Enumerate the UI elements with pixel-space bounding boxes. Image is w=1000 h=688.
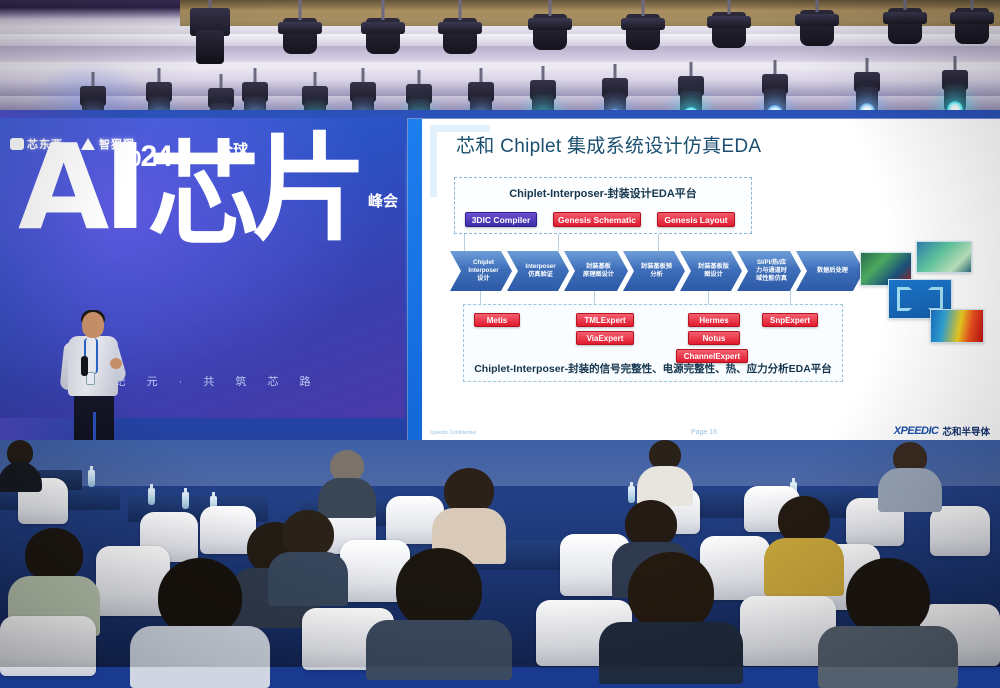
audience-area	[0, 440, 1000, 667]
water-bottle	[88, 470, 95, 487]
par-light	[283, 18, 317, 54]
tool-viaexpert[interactable]: ViaExpert	[576, 331, 634, 345]
water-bottle	[148, 488, 155, 505]
connector-line	[464, 234, 465, 251]
audience-member	[830, 558, 946, 672]
connector-line	[480, 291, 481, 305]
xpeedic-wordmark: XPEEDIC	[894, 425, 939, 437]
par-light	[800, 10, 834, 46]
person-body	[366, 620, 512, 680]
par-light	[366, 18, 400, 54]
speaker-head	[82, 312, 104, 338]
eda-platform-box: Chiplet-Interposer-封装设计EDA平台 3DIC Compil…	[454, 177, 752, 234]
light-head	[196, 30, 224, 64]
par-light	[955, 8, 989, 44]
audience-member	[380, 548, 498, 668]
speaker-hand	[110, 358, 122, 369]
backdrop-title-xin: 芯	[148, 140, 260, 252]
person-head	[778, 496, 830, 544]
par-light	[533, 14, 567, 50]
audience-member	[272, 510, 344, 590]
connector-line	[708, 291, 709, 305]
tool-snpexpert[interactable]: SnpExpert	[762, 313, 818, 327]
ceiling-beam	[0, 62, 1000, 74]
connector-line	[594, 291, 595, 305]
audience-chair	[0, 616, 96, 676]
audience-member	[612, 552, 730, 668]
package-layout-thumbnail	[916, 241, 972, 273]
audience-member	[640, 440, 690, 496]
tool-3dic-compiler[interactable]: 3DIC Compiler	[465, 212, 537, 227]
audience-member	[880, 440, 940, 504]
person-head	[25, 528, 83, 582]
tool-genesis-layout[interactable]: Genesis Layout	[657, 212, 735, 227]
moving-head-light	[940, 70, 970, 114]
person-head	[846, 558, 930, 636]
par-light	[888, 8, 922, 44]
par-light	[712, 12, 746, 48]
slide-accent-bar	[408, 119, 422, 444]
person-head	[628, 552, 714, 632]
analysis-tools-box: Metis TMLExpert ViaExpert Hermes Notus C…	[463, 304, 843, 382]
person-head	[158, 558, 242, 636]
audience-member	[320, 450, 374, 510]
audience-member	[0, 440, 40, 480]
person-body	[599, 622, 743, 684]
backdrop-title-ai: AI	[18, 128, 141, 246]
person-body	[268, 552, 348, 606]
flow-step-3[interactable]: 封装基板 原理图设计	[564, 251, 628, 291]
person-body	[818, 626, 958, 688]
flow-step-4[interactable]: 封装基板预 分析	[623, 251, 685, 291]
par-light	[626, 14, 660, 50]
flow-step-6[interactable]: SI/PI/热/应 力与通道时 域性能仿真	[737, 251, 801, 291]
flow-step-1[interactable]: Chiplet Interposer 设计	[450, 251, 512, 291]
flow-step-7[interactable]: 数据后处理	[796, 251, 864, 291]
tool-genesis-schematic[interactable]: Genesis Schematic	[553, 212, 641, 227]
thermal-map-thumbnail	[930, 309, 984, 343]
person-head	[396, 548, 482, 630]
flow-step-2[interactable]: Interposer 仿真验证	[507, 251, 569, 291]
connector-line	[558, 234, 559, 251]
conference-room-scene: 芯东西 智猩猩 2024 全球 AI 芯 片 峰会 梦 纪 元 · 共 筑 芯 …	[0, 0, 1000, 667]
eda-platform-title: Chiplet-Interposer-封装设计EDA平台	[455, 185, 751, 201]
par-light	[443, 18, 477, 54]
ceiling-beam	[0, 34, 1000, 46]
backdrop-summit-label: 峰会	[368, 193, 398, 211]
tool-hermes[interactable]: Hermes	[688, 313, 740, 327]
analysis-platform-caption: Chiplet-Interposer-封装的信号完整性、电源完整性、热、应力分析…	[464, 361, 842, 376]
tool-tmlexpert[interactable]: TMLExpert	[576, 313, 634, 327]
connector-line	[790, 291, 791, 305]
audience-chair	[930, 506, 990, 556]
moving-head-light	[188, 8, 232, 68]
person-head	[625, 500, 677, 548]
person-body	[130, 626, 270, 688]
tool-metis[interactable]: Metis	[474, 313, 520, 327]
slide-title: 芯和 Chiplet 集成系统设计仿真EDA	[456, 131, 761, 158]
xpeedic-logo: XPEEDIC 芯和半导体	[894, 424, 990, 438]
flow-step-5[interactable]: 封装基板版 图设计	[680, 251, 742, 291]
connector-line	[658, 234, 659, 251]
ceiling	[0, 0, 1000, 122]
person-head	[282, 510, 334, 558]
speaker-presenter	[60, 312, 132, 460]
person-body	[878, 468, 942, 512]
audience-member	[14, 528, 94, 618]
handheld-microphone	[81, 356, 88, 376]
audience-member	[436, 468, 502, 548]
xpeedic-chinese-name: 芯和半导体	[942, 424, 990, 438]
tool-notus[interactable]: Notus	[688, 331, 740, 345]
backdrop-title-pian: 片	[252, 132, 368, 248]
design-flow-steps: Chiplet Interposer 设计 Interposer 仿真验证 封装…	[450, 251, 870, 291]
audience-member	[140, 558, 260, 668]
person-body	[0, 462, 42, 492]
water-bottle	[182, 492, 189, 509]
presentation-screen: 芯和 Chiplet 集成系统设计仿真EDA Chiplet-Interpose…	[408, 119, 1000, 444]
